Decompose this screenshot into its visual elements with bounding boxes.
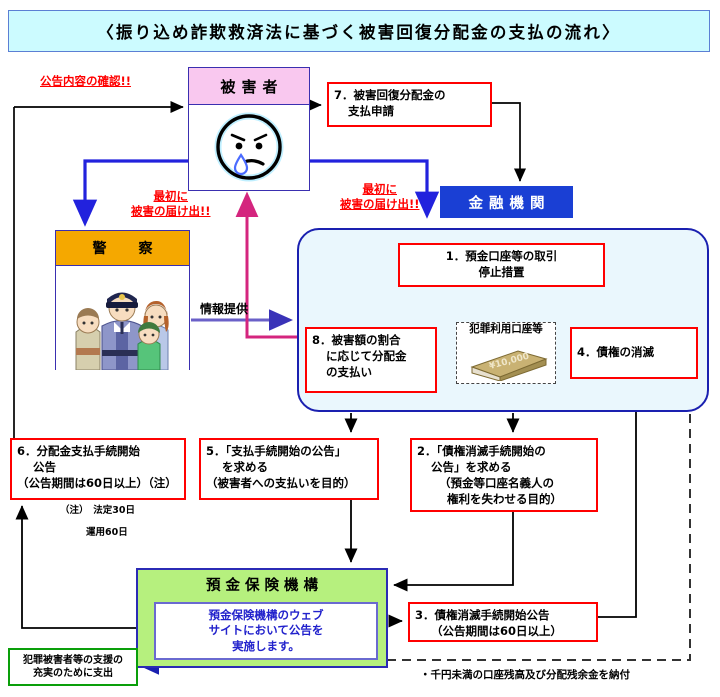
step-5-line-2: を求める bbox=[206, 460, 372, 476]
step-6-box: 6．分配金支払手続開始 公告 （公告期間は60日以上）（注） bbox=[10, 438, 186, 500]
step-5-line-1: 5．「支払手続開始の公告」 bbox=[206, 444, 372, 460]
step-6-line-3: （公告期間は60日以上）（注） bbox=[17, 476, 179, 492]
step-8-line-3: の支払い bbox=[312, 365, 430, 381]
label-confirm-notice: 公告内容の確認!! bbox=[40, 74, 131, 89]
police-label: 警 察 bbox=[84, 238, 162, 258]
step-3-box: 3．債権消滅手続開始公告 （公告期間は60日以上） bbox=[408, 602, 598, 642]
step-5-box: 5．「支払手続開始の公告」 を求める （被害者への支払いを目的） bbox=[199, 438, 379, 500]
step-8-line-1: 8．被害額の割合 bbox=[312, 333, 430, 349]
criminal-account-label: 犯罪利用口座等 bbox=[457, 321, 555, 336]
step-4-box: 4．債権の消滅 bbox=[570, 327, 698, 379]
step-8-line-2: に応じて分配金 bbox=[312, 349, 430, 365]
crying-face-icon bbox=[210, 109, 288, 189]
police-family-photo bbox=[56, 266, 189, 370]
note-bottom-remittance: ・千円未満の口座残高及び分配残余金を納付 bbox=[420, 668, 630, 683]
criminal-account-box: 犯罪利用口座等 ¥10,000 bbox=[456, 322, 556, 384]
label-report-first-left: 最初に 被害の届け出!! bbox=[131, 189, 211, 219]
financial-institution-label: 金融機関 bbox=[463, 192, 551, 213]
dic-label: 預金保険機構 bbox=[201, 574, 323, 595]
label-report-first-left-line-1: 最初に bbox=[131, 189, 211, 204]
step-2-line-3: （預金等口座名義人の bbox=[417, 476, 591, 492]
step-3-line-2: （公告期間は60日以上） bbox=[415, 624, 591, 640]
step-1-line-1: 1．預金口座等の取引 bbox=[405, 249, 598, 265]
crime-victim-support-note: 犯罪被害者等の支援の 充実のために支出 bbox=[8, 648, 138, 686]
dic-notice-line-2: サイトにおいて公告を bbox=[209, 623, 324, 639]
step-1-box: 1．預金口座等の取引 停止措置 bbox=[398, 243, 605, 287]
step-2-line-2: 公告」を求める bbox=[417, 460, 591, 476]
cash-bundle-icon: ¥10,000 bbox=[466, 347, 548, 385]
dic-notice-line-1: 預金保険機構のウェブ bbox=[209, 608, 324, 624]
step-6-line-2: 公告 bbox=[17, 460, 179, 476]
victim-header: 被害者 bbox=[189, 68, 309, 105]
diagram-title-banner: 〈振り込め詐欺救済法に基づく被害回復分配金の支払の流れ〉 bbox=[8, 10, 710, 52]
label-information-provision: 情報提供 bbox=[200, 300, 248, 317]
label-report-first-right: 最初に 被害の届け出!! bbox=[340, 182, 420, 212]
step-7-line-1: 7．被害回復分配金の bbox=[334, 88, 485, 104]
green-note-line-2: 充実のために支出 bbox=[23, 667, 123, 681]
dic-website-notice: 預金保険機構のウェブ サイトにおいて公告を 実施します。 bbox=[154, 602, 378, 660]
step-8-box: 8．被害額の割合 に応じて分配金 の支払い bbox=[305, 327, 437, 393]
victim-label: 被害者 bbox=[214, 76, 283, 97]
step-2-line-4: 権利を失わせる目的） bbox=[417, 492, 591, 508]
actor-financial-institution-header: 金融機関 bbox=[440, 186, 573, 218]
dic-header: 預金保険機構 bbox=[138, 570, 386, 598]
step-3-line-1: 3．債権消滅手続開始公告 bbox=[415, 608, 591, 624]
page-title: 〈振り込め詐欺救済法に基づく被害回復分配金の支払の流れ〉 bbox=[97, 19, 621, 43]
note-operational-60-days: 運用60日 bbox=[86, 526, 128, 539]
label-report-first-right-line-2: 被害の届け出!! bbox=[340, 197, 420, 212]
step-2-line-1: 2．「債権消滅手続開始の bbox=[417, 444, 591, 460]
note-legal-30-days: （注） 法定30日 bbox=[60, 504, 135, 517]
label-report-first-right-line-1: 最初に bbox=[340, 182, 420, 197]
actor-police: 警 察 bbox=[55, 230, 190, 370]
step-7-line-2: 支払申請 bbox=[334, 104, 485, 120]
dic-notice-line-3: 実施します。 bbox=[209, 639, 324, 655]
diagram-canvas: 〈振り込め詐欺救済法に基づく被害回復分配金の支払の流れ〉 bbox=[0, 0, 720, 697]
step-4-line-1: 4．債権の消滅 bbox=[577, 345, 654, 361]
step-7-box: 7．被害回復分配金の 支払申請 bbox=[327, 82, 492, 127]
step-5-line-3: （被害者への支払いを目的） bbox=[206, 476, 372, 492]
actor-deposit-insurance-corp: 預金保険機構 預金保険機構のウェブ サイトにおいて公告を 実施します。 bbox=[136, 568, 388, 668]
victim-illustration bbox=[189, 105, 309, 192]
step-2-box: 2．「債権消滅手続開始の 公告」を求める （預金等口座名義人の 権利を失わせる目… bbox=[410, 438, 598, 512]
step-1-line-2: 停止措置 bbox=[405, 265, 598, 281]
step-6-line-1: 6．分配金支払手続開始 bbox=[17, 444, 179, 460]
green-note-line-1: 犯罪被害者等の支援の bbox=[23, 654, 123, 668]
actor-victim: 被害者 bbox=[188, 67, 310, 191]
label-report-first-left-line-2: 被害の届け出!! bbox=[131, 204, 211, 219]
police-header: 警 察 bbox=[56, 231, 189, 266]
